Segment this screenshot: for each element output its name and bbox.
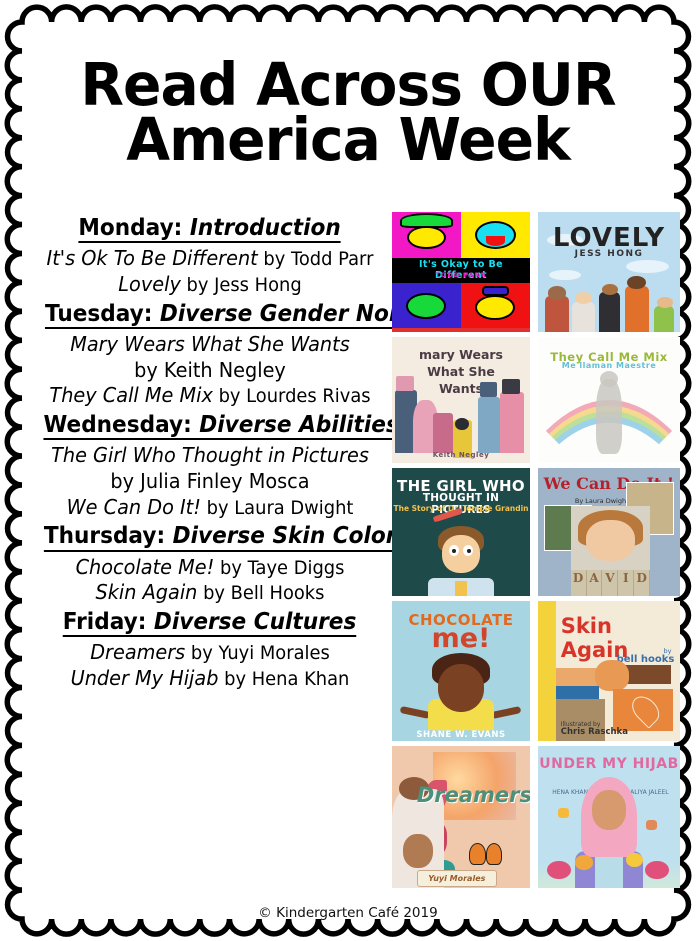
cover-title-line-2: What She	[427, 364, 495, 379]
book-title: Chocolate Me!	[76, 555, 215, 579]
book-entry: The Girl Who Thought in Pictures	[39, 443, 381, 468]
book-entry: Under My Hijab by Hena Khan	[39, 666, 381, 691]
figure-head	[657, 297, 673, 308]
book-title: Under My Hijab	[71, 666, 219, 690]
name-letter: I	[618, 570, 634, 596]
day-heading: Tuesday: Diverse Gender Norms	[45, 300, 435, 329]
name-letter: A	[587, 570, 603, 596]
book-author: by Julia Finley Mosca	[39, 469, 381, 494]
cover-author: Keith Negley	[392, 451, 530, 459]
color-block-blue	[556, 686, 599, 699]
cover-author: TODD PARR	[392, 271, 530, 279]
clasped-hands-icon	[595, 660, 629, 691]
poster-page: Read Across OUR America Week Monday: Int…	[0, 0, 696, 941]
book-cover-grid: It's Okay to Be Different TODD PARR LOVE…	[392, 212, 680, 888]
flower-icon	[645, 861, 669, 879]
cover-illustrator: Chris Raschka	[561, 727, 628, 737]
quadrant-yellow	[461, 212, 530, 258]
book-entry: We Can Do It! by Laura Dwight	[39, 495, 381, 520]
day-topic: Diverse Abilities	[192, 410, 399, 438]
quadrant-red	[461, 283, 530, 329]
quadrant-blue	[392, 283, 461, 329]
figure-pupil	[467, 549, 471, 553]
cover-author: HENA KHAN	[552, 789, 588, 796]
book-cover-we-can-do-it[interactable]: We Can Do It ! By Laura Dwight DAVID	[538, 468, 680, 596]
title-line-2: America Week	[56, 113, 640, 168]
cover-title-line-3: Wants	[439, 381, 483, 396]
cover-author: Yuyi Morales	[417, 874, 497, 883]
book-entry: Skin Again by Bell Hooks	[39, 580, 381, 605]
figure-head	[602, 284, 618, 295]
book-entry: It's Ok To Be Different by Todd Parr	[39, 246, 381, 271]
name-letter: D	[571, 570, 587, 596]
schedule-day-tuesday: Tuesday: Diverse Gender NormsMary Wears …	[28, 300, 392, 408]
day-topic: Diverse Skin Colors	[165, 521, 409, 549]
cover-title-line-2: me!	[392, 623, 530, 654]
figure-baby	[403, 834, 433, 868]
flower-icon	[575, 855, 593, 869]
cover-subtitle: Me llaman Maestre	[538, 361, 680, 370]
book-author: by Bell Hooks	[197, 582, 324, 604]
figure-dress	[595, 854, 623, 888]
book-title: They Call Me Mix	[49, 383, 212, 407]
day-name: Thursday:	[44, 521, 165, 549]
figure	[500, 392, 525, 452]
weekly-schedule-list: Monday: IntroductionIt's Ok To Be Differ…	[28, 214, 392, 694]
book-title: It's Ok To Be Different	[47, 246, 258, 270]
flower-icon	[626, 853, 643, 867]
figure-body	[596, 379, 622, 455]
cover-title-line-1: mary Wears	[419, 347, 503, 362]
figure-arm	[400, 706, 431, 719]
figure-face	[442, 535, 481, 573]
figure	[433, 413, 452, 453]
schedule-day-wednesday: Wednesday: Diverse AbilitiesThe Girl Who…	[28, 411, 392, 519]
cover-author: bell hooks	[617, 654, 675, 665]
figure	[478, 397, 500, 452]
page-title: Read Across OUR America Week	[44, 58, 652, 168]
top-hat	[480, 382, 497, 397]
cloud-icon	[549, 270, 580, 281]
day-heading: Friday: Diverse Cultures	[63, 608, 357, 637]
book-author: by Todd Parr	[258, 248, 374, 270]
book-entry: They Call Me Mix by Lourdes Rivas	[39, 383, 381, 408]
day-topic: Introduction	[183, 213, 341, 241]
figure-face	[592, 790, 626, 830]
book-author: by Jess Hong	[181, 274, 302, 296]
name-letter: D	[634, 570, 650, 596]
day-heading: Wednesday: Diverse Abilities	[43, 411, 398, 440]
book-cover-skin-again[interactable]: Skin Again by bell hooks Illustrated by …	[538, 601, 680, 741]
figure	[654, 306, 674, 332]
figure	[545, 296, 569, 332]
book-cover-dreamers[interactable]: Dreamers Yuyi Morales	[392, 746, 530, 888]
book-cover-the-girl-who-thought-in-pictures[interactable]: THE GIRL WHO THOUGHT IN PICTURES The Sto…	[392, 468, 530, 596]
book-cover-under-my-hijab[interactable]: UNDER MY HIJAB HENA KHAN AALIYA JALEEL	[538, 746, 680, 888]
book-entry: Dreamers by Yuyi Morales	[39, 640, 381, 665]
top-hat	[396, 376, 414, 391]
book-author: by Lourdes Rivas	[213, 385, 371, 407]
figure-tie	[455, 581, 466, 596]
figure-head	[548, 286, 566, 299]
cover-title: Dreamers	[417, 783, 530, 807]
figure-face	[438, 664, 485, 712]
name-letter: V	[602, 570, 618, 596]
flower-icon	[547, 861, 571, 879]
figure-arm	[491, 706, 522, 719]
cover-title: UNDER MY HIJAB	[538, 756, 680, 772]
butterfly-icon	[646, 820, 657, 830]
day-heading: Monday: Introduction	[79, 214, 341, 243]
book-author: by Laura Dwight	[201, 497, 353, 519]
book-entry: Mary Wears What She Wants	[39, 332, 381, 357]
butterfly-icon	[558, 808, 569, 818]
book-title: Dreamers	[90, 640, 185, 664]
book-cover-chocolate-me[interactable]: CHOCOLATE me! TAYE DIGGS SHANE W. EVANS	[392, 601, 530, 741]
copyright-footer: © Kindergarten Café 2019	[0, 905, 696, 921]
book-author: by Keith Negley	[39, 358, 381, 383]
book-cover-they-call-me-mix[interactable]: They Call Me Mix Me llaman Maestre	[538, 337, 680, 463]
book-title: Lovely	[118, 272, 181, 296]
book-entry: Lovely by Jess Hong	[39, 272, 381, 297]
book-author: by Taye Diggs	[214, 557, 344, 579]
day-name: Monday:	[79, 213, 183, 241]
book-cover-its-okay-to-be-different[interactable]: It's Okay to Be Different TODD PARR	[392, 212, 530, 332]
schedule-day-monday: Monday: IntroductionIt's Ok To Be Differ…	[28, 214, 392, 297]
yellow-strip	[538, 601, 556, 741]
book-cover-lovely[interactable]: LOVELY JESS HONG	[538, 212, 680, 332]
day-name: Tuesday:	[45, 299, 152, 327]
cloud-icon	[626, 260, 669, 273]
day-heading: Thursday: Diverse Skin Colors	[44, 522, 409, 551]
figure	[599, 292, 620, 332]
name-letter-blocks: DAVID	[571, 570, 651, 596]
quadrant-magenta	[392, 212, 461, 258]
day-name: Friday:	[63, 607, 147, 635]
cover-author: JESS HONG	[538, 249, 680, 259]
top-hat	[502, 379, 520, 394]
book-author: by Hena Khan	[218, 668, 349, 690]
day-name: Wednesday:	[43, 410, 191, 438]
book-author: by Yuyi Morales	[185, 642, 330, 664]
book-title: We Can Do It!	[67, 495, 201, 519]
book-title: The Girl Who Thought in Pictures	[51, 443, 369, 467]
cover-illustrator: SHANE W. EVANS	[392, 730, 530, 740]
book-title: Mary Wears What She Wants	[70, 332, 350, 356]
schedule-day-thursday: Thursday: Diverse Skin ColorsChocolate M…	[28, 522, 392, 605]
figure-head	[627, 276, 645, 289]
book-title: Skin Again	[96, 580, 198, 604]
figure-face	[586, 520, 634, 561]
butterfly-icon	[469, 843, 502, 866]
day-topic: Diverse Cultures	[147, 607, 357, 635]
figure	[572, 302, 595, 332]
book-entry: Chocolate Me! by Taye Diggs	[39, 555, 381, 580]
figure	[625, 286, 649, 332]
schedule-day-friday: Friday: Diverse CulturesDreamers by Yuyi…	[28, 608, 392, 691]
book-cover-mary-wears-what-she-wants[interactable]: mary Wears What She Wants Keith Negley	[392, 337, 530, 463]
